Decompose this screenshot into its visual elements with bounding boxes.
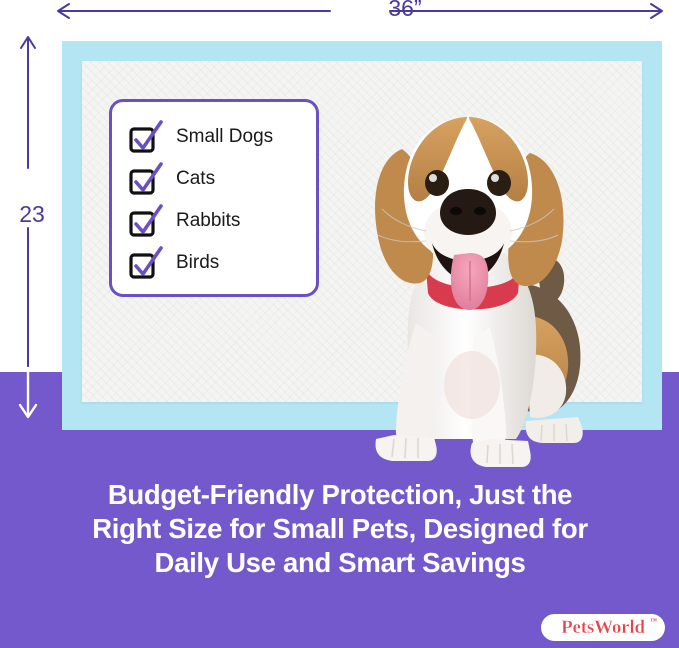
width-dimension-label: 36” — [360, 0, 450, 22]
checklist-item[interactable]: Rabbits — [130, 200, 316, 242]
product-marketing-image: 36” 23 — [0, 0, 679, 648]
brand-name: PetsWorld — [561, 618, 645, 637]
suitable-pets-checklist: Small Dogs Cats Rabbits — [109, 99, 319, 297]
checklist-item-label: Rabbits — [176, 210, 240, 232]
checkbox-checked-icon[interactable] — [130, 167, 154, 191]
checkbox-checked-icon[interactable] — [130, 251, 154, 275]
headline-line-2: Right Size for Small Pets, Designed for — [40, 512, 640, 546]
checklist-item-label: Birds — [176, 252, 219, 274]
width-dimension-arrow: 36” — [50, 0, 670, 28]
trademark-symbol: ™ — [650, 617, 657, 625]
brand-logo: PetsWorld ™ — [541, 614, 665, 641]
checklist-item[interactable]: Cats — [130, 158, 316, 200]
headline-line-3: Daily Use and Smart Savings — [40, 546, 640, 580]
checklist-item-label: Cats — [176, 168, 215, 190]
checklist-item-label: Small Dogs — [176, 126, 273, 148]
height-dimension-arrow: 23 — [4, 28, 52, 428]
checkbox-checked-icon[interactable] — [130, 125, 154, 149]
checklist-item[interactable]: Birds — [130, 242, 316, 284]
checklist-item[interactable]: Small Dogs — [130, 116, 316, 158]
beagle-dog-photo — [330, 55, 610, 475]
checkbox-checked-icon[interactable] — [130, 209, 154, 233]
headline-line-1: Budget-Friendly Protection, Just the — [40, 478, 640, 512]
height-dimension-label: 23 — [10, 200, 54, 228]
headline-text: Budget-Friendly Protection, Just the Rig… — [40, 478, 640, 580]
